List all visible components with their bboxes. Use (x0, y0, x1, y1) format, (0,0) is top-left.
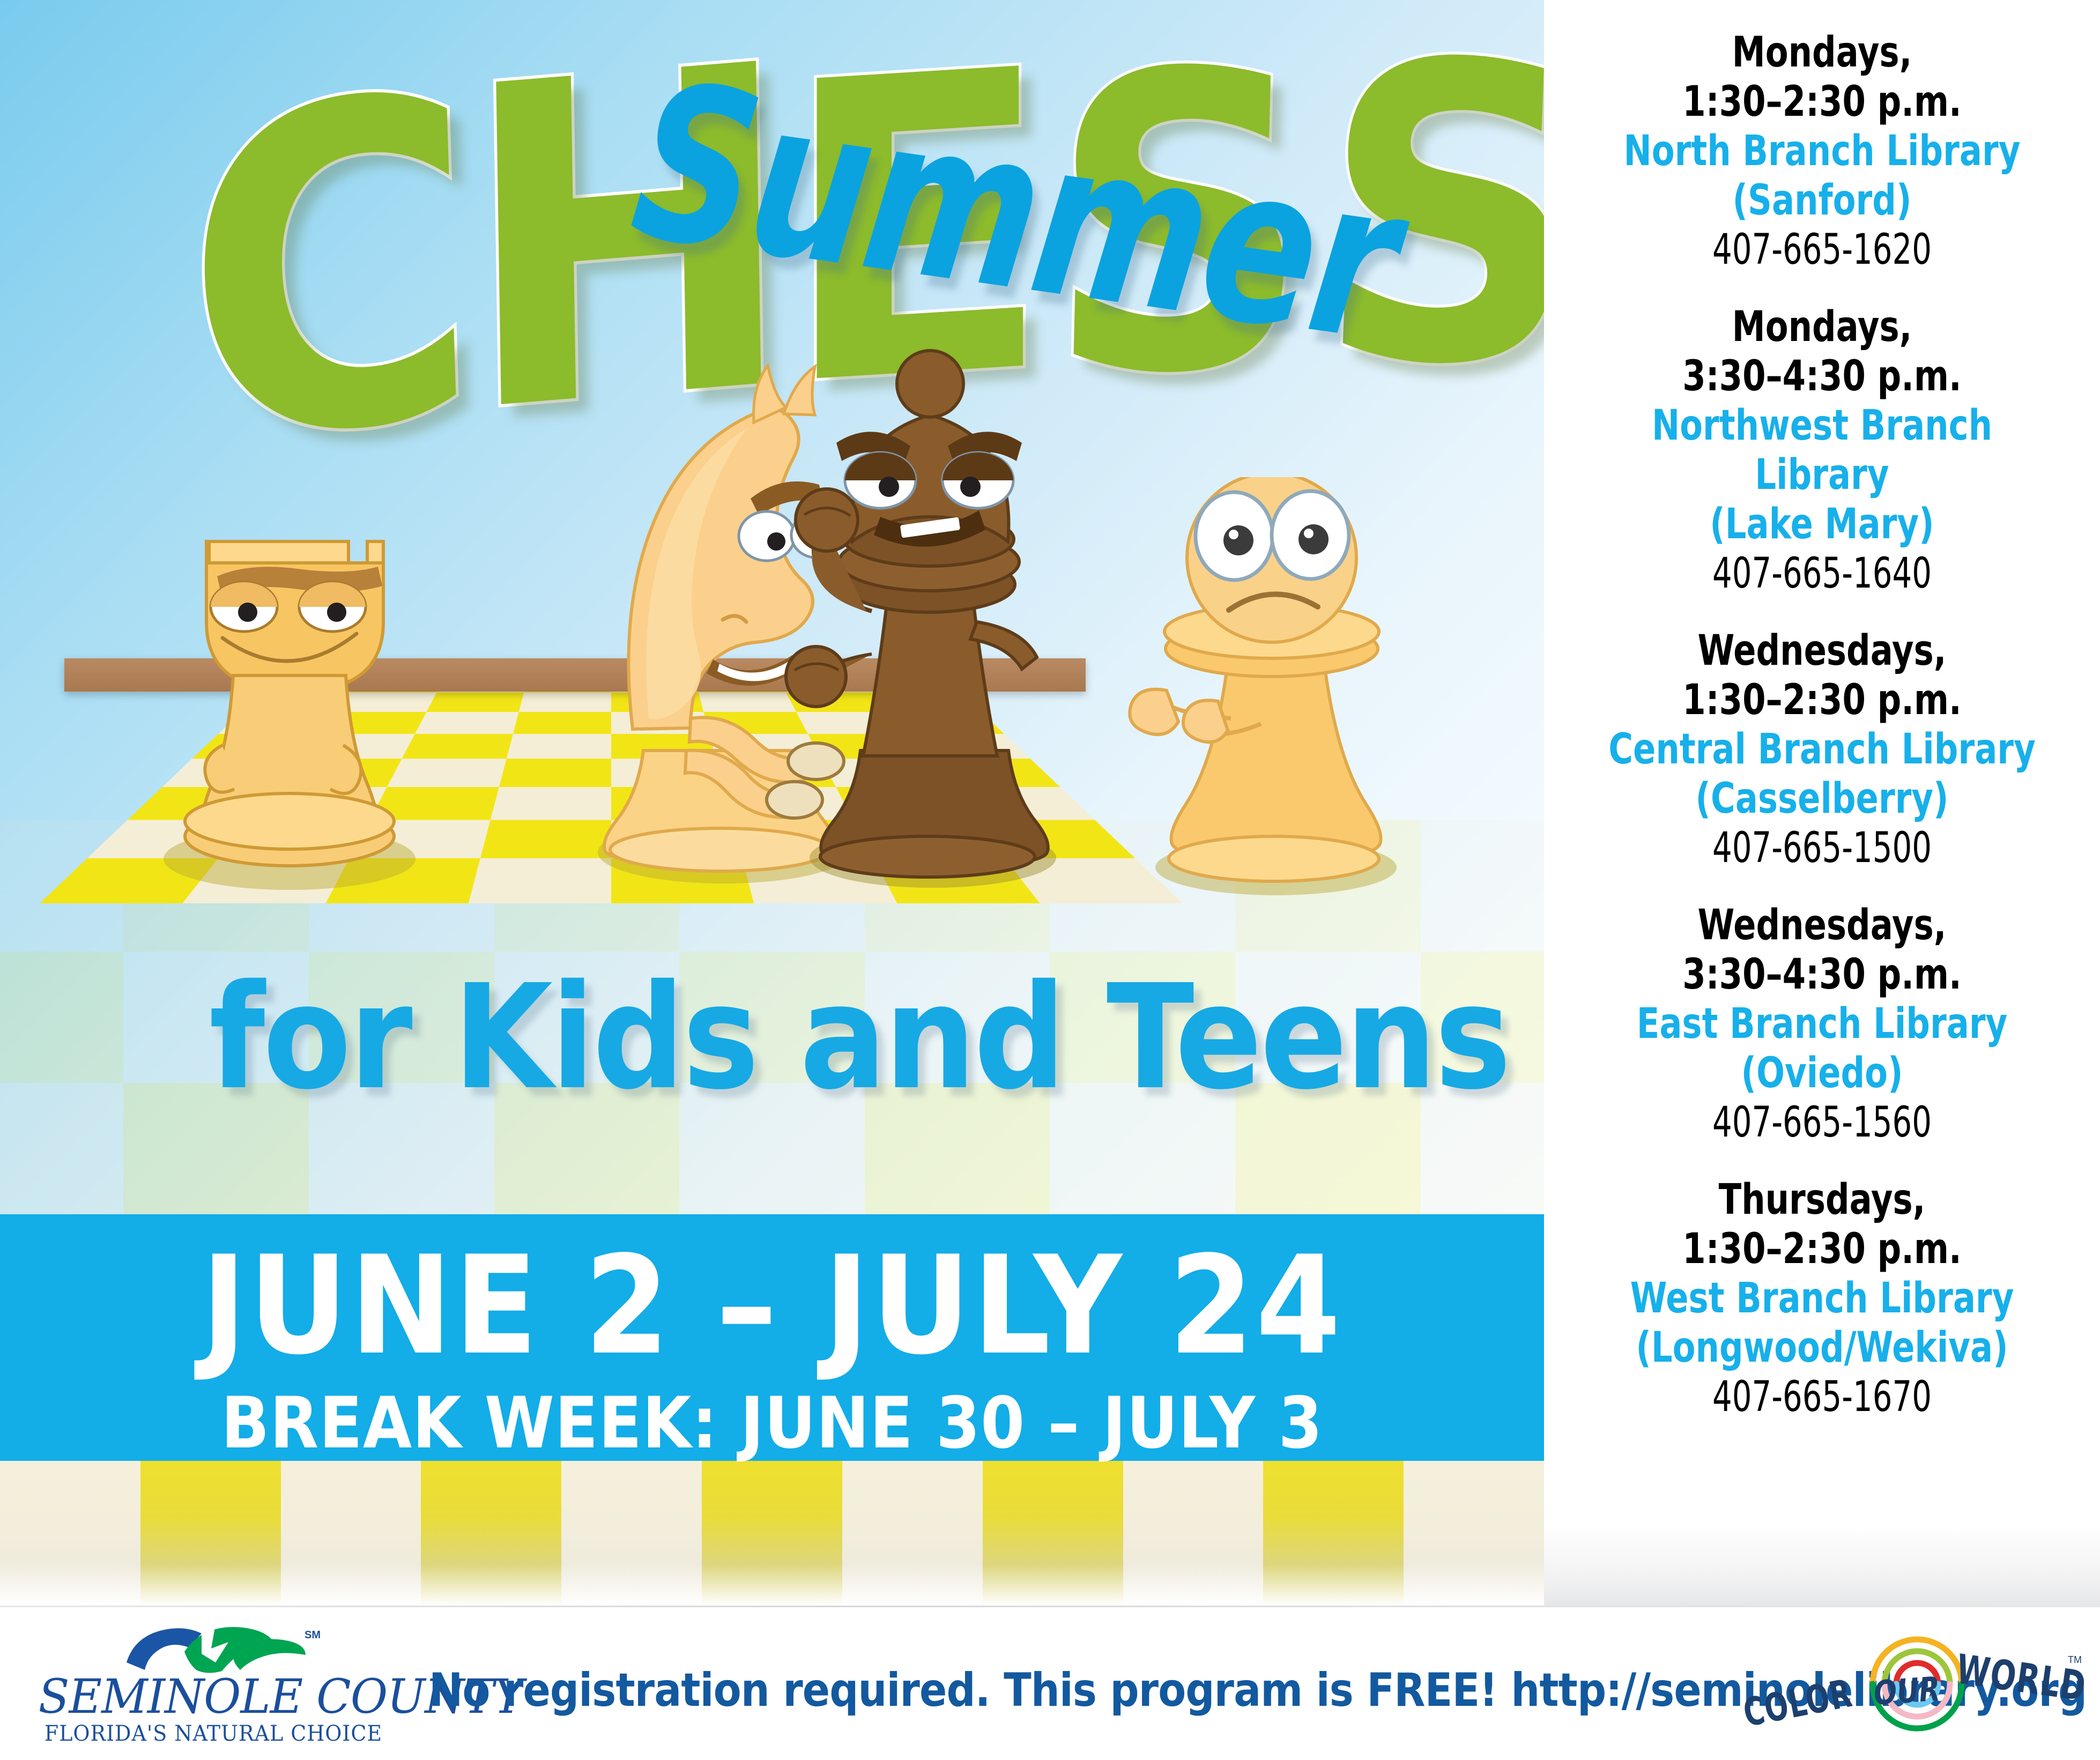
artwork-panel: CHESS Summer (0, 0, 1544, 1606)
ghost-square (0, 952, 123, 1083)
schedule-item: Mondays,3:30–4:30 p.m.Northwest Branch L… (1544, 302, 2100, 598)
schedule-time: 1:30–2:30 p.m. (1600, 77, 2045, 127)
board-square (426, 693, 524, 712)
date-banner: JUNE 2 – JULY 24 BREAK WEEK: JUNE 30 – J… (0, 1214, 1544, 1461)
schedule-panel: Mondays,1:30–2:30 p.m.North Branch Libra… (1544, 0, 2100, 1606)
schedule-item: Wednesdays,1:30–2:30 p.m.Central Branch … (1544, 626, 2100, 873)
schedule-city: (Sanford) (1600, 176, 2045, 225)
schedule-time: 1:30–2:30 p.m. (1600, 1224, 2045, 1274)
chess-letter: C (179, 63, 469, 482)
bottom-stripe (842, 1458, 983, 1606)
schedule-library-name[interactable]: Central Branch Library (1600, 725, 2045, 774)
bottom-stripe (421, 1458, 562, 1606)
county-name: SEMINOLE COUNTY (39, 1669, 389, 1724)
subtitle: for Kids and Teens (209, 953, 1346, 1122)
schedule-city: (Oviedo) (1600, 1049, 2045, 1098)
bottom-stripe (1404, 1458, 1544, 1606)
schedule-phone[interactable]: 407-665-1640 (1616, 549, 2028, 598)
seminole-swoosh-icon (121, 1624, 309, 1675)
bottom-stripe (0, 1458, 141, 1606)
schedule-day: Thursdays, (1600, 1175, 2045, 1224)
schedule-time: 3:30–4:30 p.m. (1600, 950, 2045, 999)
schedule-phone[interactable]: 407-665-1560 (1616, 1098, 2028, 1147)
schedule-library-name[interactable]: West Branch Library (1600, 1274, 2045, 1323)
registration-notice: No registration required. This program i… (429, 1664, 1571, 1717)
schedule-city: (Longwood/Wekiva) (1600, 1323, 2045, 1372)
bottom-stripe (983, 1458, 1124, 1606)
cow-color-text: COLOR (1740, 1670, 1856, 1735)
schedule-phone[interactable]: 407-665-1620 (1616, 225, 2028, 274)
schedule-day: Wednesdays, (1600, 901, 2045, 950)
footer: SM SEMINOLE COUNTY FLORIDA'S NATURAL CHO… (0, 1606, 2100, 1760)
schedule-city: (Casselberry) (1600, 774, 2045, 823)
bishop-piece (767, 332, 1088, 895)
schedule-day: Mondays, (1600, 28, 2045, 77)
bottom-stripe (140, 1458, 281, 1606)
footer-divider (0, 1606, 2100, 1607)
board-square (415, 712, 519, 734)
schedule-phone[interactable]: 407-665-1500 (1616, 823, 2028, 873)
ghost-square (0, 1083, 123, 1214)
service-mark-symbol: SM (305, 1629, 321, 1642)
bottom-stripe (1123, 1458, 1264, 1606)
schedule-library-name[interactable]: North Branch Library (1600, 127, 2045, 176)
schedule-day: Wednesdays, (1600, 626, 2045, 675)
seminole-county-logo: SM SEMINOLE COUNTY FLORIDA'S NATURAL CHO… (31, 1627, 396, 1750)
schedule-library-name[interactable]: East Branch Library (1600, 999, 2045, 1049)
schedule-item: Mondays,1:30–2:30 p.m.North Branch Libra… (1544, 28, 2100, 274)
schedule-item: Thursdays,1:30–2:30 p.m.West Branch Libr… (1544, 1175, 2100, 1422)
schedule-library-name[interactable]: Northwest Branch Library (1600, 401, 2045, 500)
color-our-world-logo: COLOR OUR WORLD TM (1740, 1635, 2083, 1742)
schedule-time: 3:30–4:30 p.m. (1600, 352, 2045, 401)
bottom-stripe (561, 1458, 702, 1606)
bottom-stripes (0, 1458, 1544, 1606)
date-range: JUNE 2 – JULY 24 (8, 1228, 1536, 1385)
bottom-stripe (1263, 1458, 1404, 1606)
schedule-day: Mondays, (1600, 302, 2045, 352)
trademark-symbol: TM (2068, 1654, 2082, 1666)
bottom-stripe (281, 1458, 422, 1606)
rook-piece (129, 461, 429, 895)
schedule-phone[interactable]: 407-665-1670 (1616, 1372, 2028, 1422)
schedule-city: (Lake Mary) (1600, 500, 2045, 549)
bottom-stripe (702, 1458, 843, 1606)
cow-our-text: OUR (1872, 1669, 1941, 1712)
break-week: BREAK WEEK: JUNE 30 – JULY 3 (0, 1382, 1544, 1465)
county-tagline: FLORIDA'S NATURAL CHOICE (40, 1721, 387, 1746)
poster-root: CHESS Summer (0, 0, 2100, 1760)
schedule-time: 1:30–2:30 p.m. (1600, 675, 2045, 725)
ghost-square (1421, 820, 1544, 952)
schedule-item: Wednesdays,3:30–4:30 p.m.East Branch Lib… (1544, 901, 2100, 1147)
schedule-bottom-fade (1544, 1525, 2100, 1606)
pawn-piece (1115, 477, 1415, 901)
